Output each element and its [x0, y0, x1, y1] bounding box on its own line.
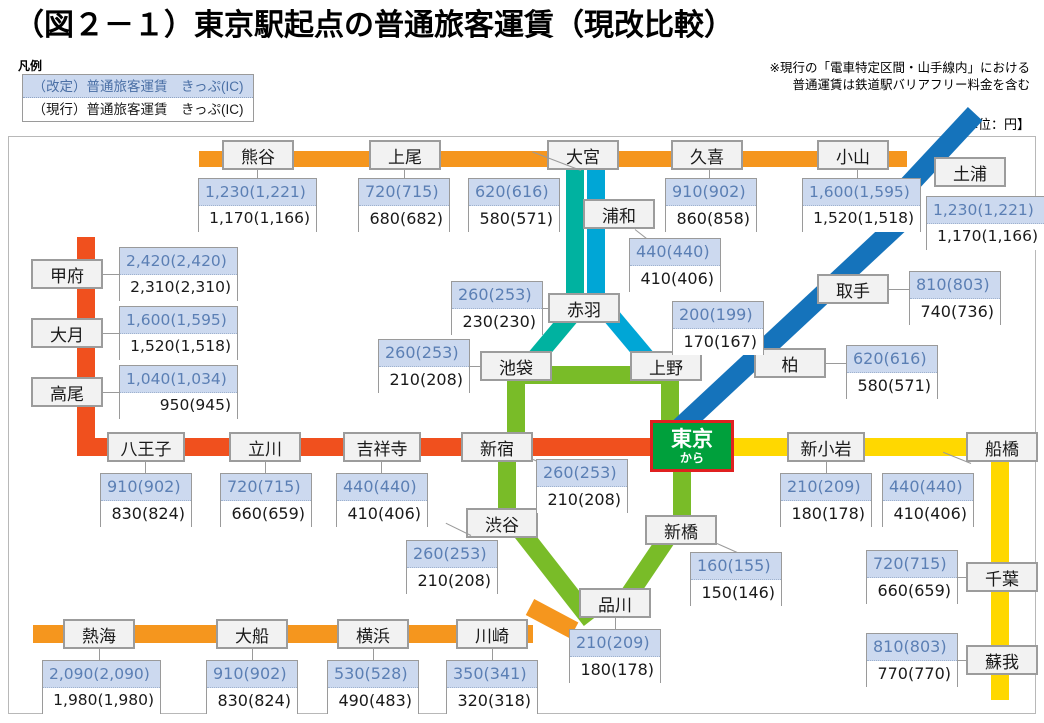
station-kofu[interactable]: 甲府: [31, 259, 103, 289]
station-ikebukuro[interactable]: 池袋: [480, 351, 552, 381]
fare-old: 230(230): [452, 309, 542, 335]
fare-new: 260(253): [407, 541, 497, 568]
fare-old: 410(406): [883, 501, 973, 527]
footnote-line1: ※現行の「電車特定区間・山手線内」における: [740, 60, 1030, 77]
fare-chiba: 720(715) 660(659): [866, 550, 958, 604]
fare-new: 720(715): [359, 179, 449, 206]
fare-old: 1,520(1,518): [120, 334, 237, 360]
legend-row-revised: （改定）普通旅客運賃 きっぷ(IC): [23, 75, 253, 98]
fare-new: 720(715): [867, 551, 957, 578]
station-toride[interactable]: 取手: [817, 274, 889, 304]
fare-shinagawa: 210(209) 180(178): [569, 629, 661, 683]
station-oyama[interactable]: 小山: [817, 140, 889, 170]
station-atami[interactable]: 熱海: [63, 619, 135, 649]
fare-old: 660(659): [867, 578, 957, 604]
fare-atami: 2,090(2,090) 1,980(1,980): [42, 660, 161, 714]
fare-new: 2,090(2,090): [43, 661, 160, 688]
fare-new: 1,230(1,221): [199, 179, 316, 206]
fare-kichijoji: 440(440) 410(406): [336, 473, 428, 527]
station-kashiwa[interactable]: 柏: [754, 348, 826, 378]
fare-yokohama: 530(528) 490(483): [327, 660, 419, 714]
fare-old: 860(858): [666, 206, 756, 232]
fare-new: 260(253): [379, 340, 469, 367]
fare-old: 1,170(1,166): [199, 206, 316, 232]
fare-old: 410(406): [337, 501, 427, 527]
fare-old: 660(659): [221, 501, 311, 527]
fare-ofuna: 910(902) 830(824): [206, 660, 298, 714]
station-ageo[interactable]: 上尾: [369, 140, 441, 170]
fare-new: 620(616): [847, 346, 937, 373]
fare-new: 2,420(2,420): [120, 248, 237, 275]
fare-shinkoiwa: 210(209) 180(178): [780, 473, 872, 527]
fare-old: 1,170(1,166): [927, 224, 1044, 250]
leader-takao: [103, 392, 119, 393]
fare-kumagaya: 1,230(1,221) 1,170(1,166): [198, 178, 317, 232]
fare-tachikawa: 720(715) 660(659): [220, 473, 312, 527]
station-tsuchiura[interactable]: 土浦: [934, 157, 1006, 187]
fare-omiya: 620(616) 580(571): [468, 178, 560, 232]
station-tokyo-origin[interactable]: 東京 から: [650, 420, 734, 472]
station-shinkoiwa[interactable]: 新小岩: [787, 432, 865, 462]
fare-old: 740(736): [910, 299, 1000, 325]
fare-takao: 1,040(1,034) 950(945): [119, 365, 238, 419]
fare-new: 530(528): [328, 661, 418, 688]
fare-shinbashi: 160(155) 150(146): [690, 552, 782, 606]
station-akabane[interactable]: 赤羽: [548, 293, 620, 323]
fare-hachioji: 910(902) 830(824): [100, 473, 192, 527]
fare-old: 680(682): [359, 206, 449, 232]
fare-new: 440(440): [630, 239, 720, 266]
fare-urawa: 440(440) 410(406): [629, 238, 721, 292]
fare-new: 440(440): [337, 474, 427, 501]
station-otsuki[interactable]: 大月: [31, 318, 103, 348]
fare-new: 720(715): [221, 474, 311, 501]
fare-old: 770(770): [867, 661, 957, 687]
fare-old: 580(571): [847, 373, 937, 399]
station-urawa[interactable]: 浦和: [583, 199, 655, 229]
fare-old: 830(824): [101, 501, 191, 527]
station-takao[interactable]: 高尾: [31, 377, 103, 407]
page-title: （図２－１）東京駅起点の普通旅客運賃（現改比較）: [14, 4, 1014, 48]
station-kichijoji[interactable]: 吉祥寺: [343, 432, 421, 462]
station-omiya[interactable]: 大宮: [547, 140, 619, 170]
fare-old: 830(824): [207, 688, 297, 714]
fare-ueno: 200(199) 170(167): [672, 301, 764, 355]
fare-old: 210(208): [379, 367, 469, 393]
origin-suffix: から: [680, 452, 704, 464]
fare-old: 1,980(1,980): [43, 688, 160, 714]
station-shibuya[interactable]: 渋谷: [466, 508, 538, 538]
fare-new: 910(902): [101, 474, 191, 501]
leader-kashiwa: [826, 363, 846, 364]
fare-new: 200(199): [673, 302, 763, 329]
fare-new: 910(902): [207, 661, 297, 688]
fare-new: 350(341): [447, 661, 537, 688]
fare-old: 1,520(1,518): [803, 206, 920, 232]
station-ofuna[interactable]: 大船: [216, 619, 288, 649]
fare-ikebukuro: 260(253) 210(208): [378, 339, 470, 393]
fare-old: 150(146): [691, 580, 781, 606]
fare-old: 180(178): [570, 657, 660, 683]
footnote-line2: 普通運賃は鉄道駅バリアフリー料金を含む: [740, 77, 1030, 94]
fare-old: 170(167): [673, 329, 763, 355]
fare-new: 910(902): [666, 179, 756, 206]
fare-shibuya: 260(253) 210(208): [406, 540, 498, 594]
fare-soga: 810(803) 770(770): [866, 633, 958, 687]
station-yokohama[interactable]: 横浜: [337, 619, 409, 649]
fare-new: 620(616): [469, 179, 559, 206]
fare-old: 490(483): [328, 688, 418, 714]
fare-old: 580(571): [469, 206, 559, 232]
fare-old: 210(208): [537, 487, 627, 513]
legend-heading: 凡例: [18, 57, 42, 74]
fare-toride: 810(803) 740(736): [909, 271, 1001, 325]
station-hachioji[interactable]: 八王子: [107, 432, 185, 462]
fare-old: 180(178): [781, 501, 871, 527]
station-shinbashi[interactable]: 新橋: [645, 515, 717, 545]
station-chiba[interactable]: 千葉: [966, 562, 1038, 592]
origin-name: 東京: [671, 429, 713, 450]
station-ueno[interactable]: 上野: [630, 351, 702, 381]
fare-kawasaki: 350(341) 320(318): [446, 660, 538, 714]
station-funabashi[interactable]: 船橋: [966, 432, 1038, 462]
fare-old: 2,310(2,310): [120, 275, 237, 301]
station-shinjuku[interactable]: 新宿: [461, 432, 533, 462]
station-shinagawa[interactable]: 品川: [579, 588, 651, 618]
route-map: 熊谷 上尾 大宮 久喜 小山 土浦 甲府 大月 高尾 浦和 赤羽 池袋 上野 取…: [8, 136, 1036, 714]
leader-kofu: [103, 274, 119, 275]
fare-new: 210(209): [781, 474, 871, 501]
fare-new: 260(253): [452, 282, 542, 309]
fare-new: 260(253): [537, 460, 627, 487]
fare-kuki: 910(902) 860(858): [665, 178, 757, 232]
fare-old: 410(406): [630, 266, 720, 292]
leader-otsuki: [103, 333, 119, 334]
station-kumagaya[interactable]: 熊谷: [222, 140, 294, 170]
station-kawasaki[interactable]: 川崎: [456, 619, 528, 649]
fare-diagram-page: （図２－１）東京駅起点の普通旅客運賃（現改比較） 凡例 （改定）普通旅客運賃 き…: [0, 0, 1044, 723]
fare-oyama: 1,600(1,595) 1,520(1,518): [802, 178, 921, 232]
fare-new: 210(209): [570, 630, 660, 657]
station-soga[interactable]: 蘇我: [966, 645, 1038, 675]
fare-kofu: 2,420(2,420) 2,310(2,310): [119, 247, 238, 301]
legend: （改定）普通旅客運賃 きっぷ(IC) （現行）普通旅客運賃 きっぷ(IC): [22, 74, 254, 122]
fare-old: 950(945): [120, 393, 237, 419]
rail-keihin-tohoku-omiya-akabane: [587, 151, 605, 311]
fare-shinjuku: 260(253) 210(208): [536, 459, 628, 513]
leader-toride: [889, 289, 909, 290]
fare-new: 810(803): [910, 272, 1000, 299]
fare-new: 160(155): [691, 553, 781, 580]
fare-old: 320(318): [447, 688, 537, 714]
fare-ageo: 720(715) 680(682): [358, 178, 450, 232]
station-tachikawa[interactable]: 立川: [229, 432, 301, 462]
station-kuki[interactable]: 久喜: [671, 140, 743, 170]
fare-new: 1,600(1,595): [120, 307, 237, 334]
fare-kashiwa: 620(616) 580(571): [846, 345, 938, 399]
fare-tsuchiura: 1,230(1,221) 1,170(1,166): [926, 196, 1044, 250]
fare-new: 1,230(1,221): [927, 197, 1044, 224]
rail-shonan-shinjuku-omiya-akabane: [566, 151, 584, 311]
fare-new: 810(803): [867, 634, 957, 661]
legend-row-current: （現行）普通旅客運賃 きっぷ(IC): [23, 98, 253, 121]
fare-otsuki: 1,600(1,595) 1,520(1,518): [119, 306, 238, 360]
fare-old: 210(208): [407, 568, 497, 594]
fare-new: 1,600(1,595): [803, 179, 920, 206]
fare-akabane: 260(253) 230(230): [451, 281, 543, 335]
footnote: ※現行の「電車特定区間・山手線内」における 普通運賃は鉄道駅バリアフリー料金を含…: [740, 60, 1030, 94]
fare-new: 440(440): [883, 474, 973, 501]
fare-funabashi: 440(440) 410(406): [882, 473, 974, 527]
fare-new: 1,040(1,034): [120, 366, 237, 393]
